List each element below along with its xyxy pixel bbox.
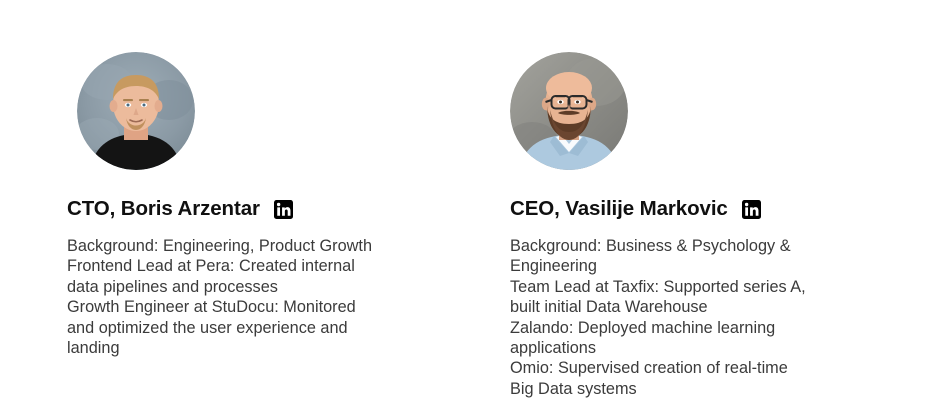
- profile-name-row-ceo: CEO, Vasilije Markovic: [510, 196, 761, 222]
- profile-bio-ceo: Background: Business & Psychology & Engi…: [510, 236, 860, 399]
- avatar-vasilije-markovic: [510, 52, 628, 170]
- team-profiles: CTO, Boris Arzentar Background: Engineer…: [0, 0, 948, 412]
- profile-bio-cto: Background: Engineering, Product Growth …: [67, 236, 417, 358]
- page-title-cto: CTO, Boris Arzentar: [67, 196, 260, 222]
- profile-name-row-cto: CTO, Boris Arzentar: [67, 196, 293, 222]
- profile-card-cto: CTO, Boris Arzentar Background: Engineer…: [0, 0, 474, 412]
- linkedin-icon[interactable]: [742, 200, 761, 219]
- avatar-boris-arzentar: [77, 52, 195, 170]
- page-title-ceo: CEO, Vasilije Markovic: [510, 196, 728, 222]
- profile-card-ceo: CEO, Vasilije Markovic Background: Busin…: [474, 0, 948, 412]
- linkedin-icon[interactable]: [274, 200, 293, 219]
